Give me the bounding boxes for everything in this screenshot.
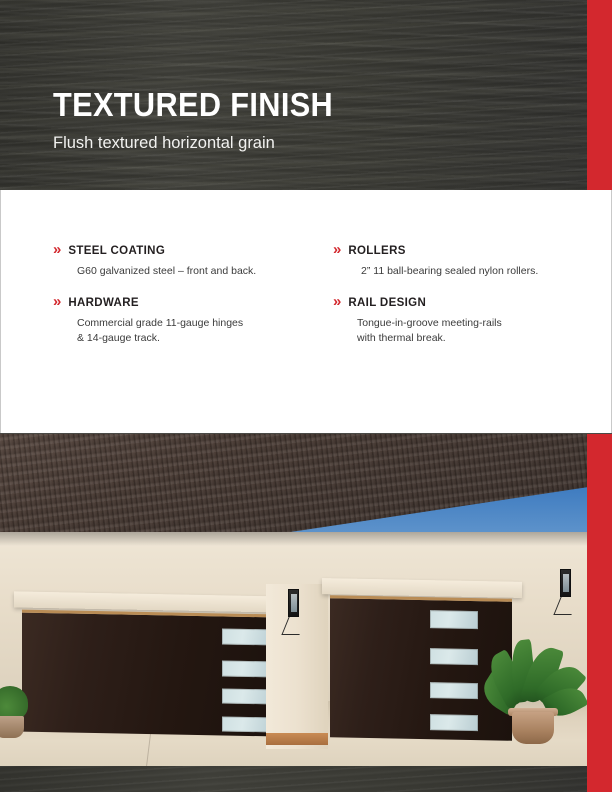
spec-item-rail-design: » RAIL DESIGN Tongue-in-groove meeting-r… <box>333 294 612 346</box>
page-title: TEXTURED FINISH <box>53 88 333 121</box>
product-spec-page: TEXTURED FINISH Flush textured horizonta… <box>0 0 612 792</box>
header-text-block: TEXTURED FINISH Flush textured horizonta… <box>53 88 354 151</box>
page-subtitle: Flush textured horizontal grain <box>53 134 345 151</box>
spec-heading-row: » RAIL DESIGN <box>333 294 612 310</box>
window-pane <box>430 648 478 665</box>
spec-body: Tongue-in-groove meeting-rails with ther… <box>357 316 612 346</box>
garage-door-double <box>22 610 272 737</box>
photo-accent-stripe <box>587 434 612 792</box>
spec-title: RAIL DESIGN <box>348 297 426 310</box>
window-pane <box>430 714 478 731</box>
garage-door-photo <box>0 434 587 767</box>
spec-title: HARDWARE <box>68 297 139 310</box>
spec-body: G60 galvanized steel – front and back. <box>77 264 333 279</box>
footer-texture-band <box>0 766 587 792</box>
wall-sconce-light-icon <box>288 589 299 617</box>
shrub <box>0 686 28 720</box>
product-photo-section <box>0 433 612 792</box>
spec-body: 2” 11 ball-bearing sealed nylon rollers. <box>361 264 612 279</box>
window-pane <box>430 682 478 699</box>
wall-sconce-light-icon <box>560 569 571 597</box>
facade-shadow <box>0 532 587 546</box>
chevron-double-right-icon: » <box>333 294 340 309</box>
spec-item-steel-coating: » STEEL COATING G60 galvanized steel – f… <box>53 242 333 279</box>
spec-title: ROLLERS <box>348 245 405 258</box>
spec-heading-row: » ROLLERS <box>333 242 612 258</box>
header-accent-stripe <box>587 0 612 190</box>
spec-heading-row: » HARDWARE <box>53 294 333 310</box>
spec-body: Commercial grade 11-gauge hinges & 14-ga… <box>77 316 333 346</box>
spec-heading-row: » STEEL COATING <box>53 242 333 258</box>
window-pane <box>430 610 478 629</box>
specifications-panel: » STEEL COATING G60 galvanized steel – f… <box>0 190 612 433</box>
spec-column-right: » ROLLERS 2” 11 ball-bearing sealed nylo… <box>333 242 612 361</box>
specifications-grid: » STEEL COATING G60 galvanized steel – f… <box>1 242 612 361</box>
spec-item-rollers: » ROLLERS 2” 11 ball-bearing sealed nylo… <box>333 242 612 279</box>
chevron-double-right-icon: » <box>333 242 340 257</box>
chevron-double-right-icon: » <box>53 294 60 309</box>
spec-item-hardware: » HARDWARE Commercial grade 11-gauge hin… <box>53 294 333 346</box>
pillar-base-trim <box>266 733 328 745</box>
spec-title: STEEL COATING <box>68 245 165 258</box>
terracotta-planter <box>512 712 554 744</box>
spec-column-left: » STEEL COATING G60 galvanized steel – f… <box>53 242 333 361</box>
shrub-pot <box>0 716 24 738</box>
chevron-double-right-icon: » <box>53 242 60 257</box>
garage-door-single <box>330 595 512 740</box>
header-banner: TEXTURED FINISH Flush textured horizonta… <box>0 0 612 190</box>
